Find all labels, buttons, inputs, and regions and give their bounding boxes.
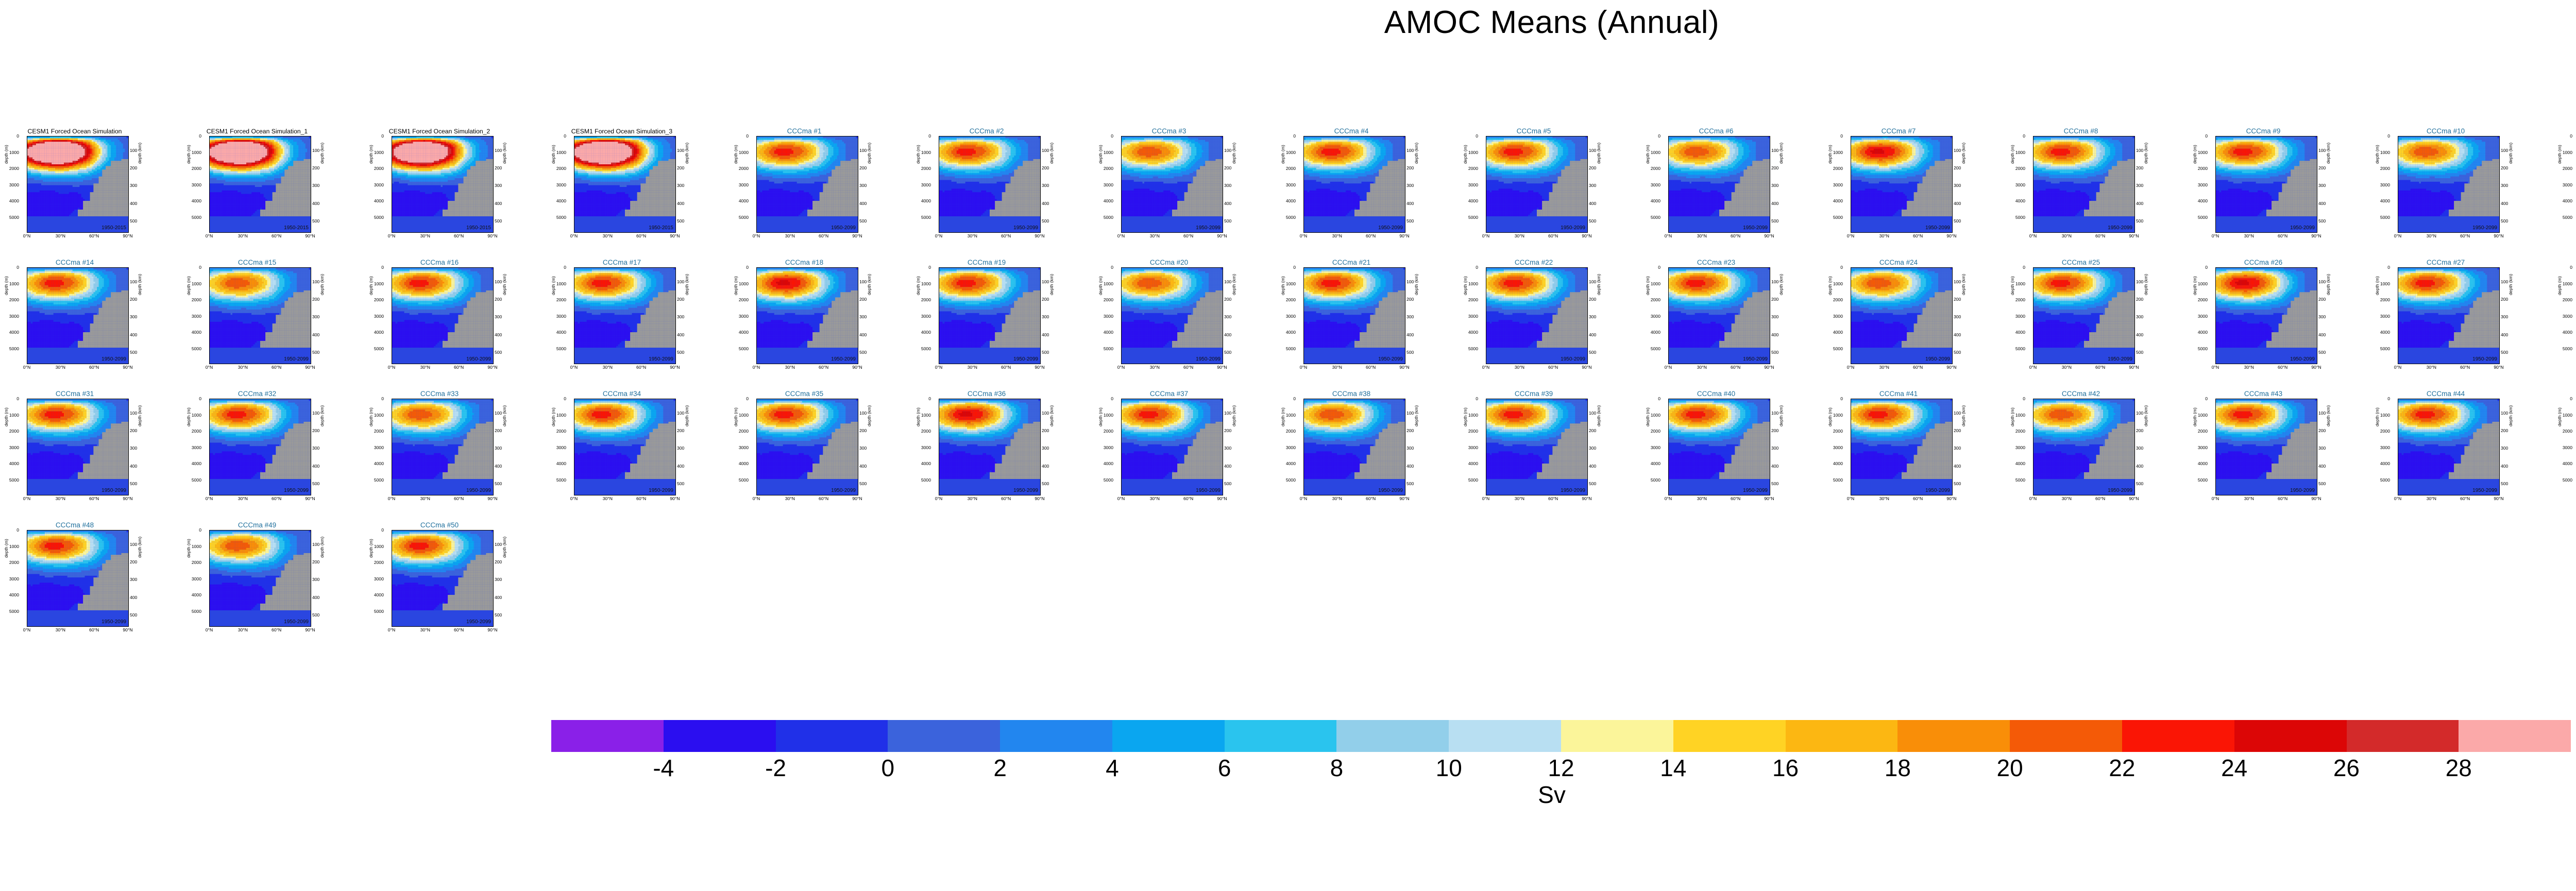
amoc-panel[interactable]: CCCma #91950-2099010002000300040005000de… <box>2193 128 2334 256</box>
amoc-panel[interactable]: CESM1 Forced Ocean Simulation_11950-2015… <box>187 128 328 256</box>
amoc-panel[interactable]: CCCma #221950-2099010002000300040005000d… <box>1463 259 1604 388</box>
right-axis-tick: 500 <box>1954 350 1961 354</box>
amoc-panel[interactable]: CCCma #421950-2099010002000300040005000d… <box>2010 390 2151 519</box>
amoc-panel[interactable]: CCCma #151950-2099010002000300040005000d… <box>187 259 328 388</box>
x-axis-ticks: 0°N30°N60°N90°N <box>209 365 310 372</box>
amoc-panel[interactable]: CCCma #431950-2099010002000300040005000d… <box>2193 390 2334 519</box>
x-axis-tick: 90°N <box>852 365 862 370</box>
y-axis-tick: 5000 <box>910 215 931 219</box>
y-axis-tick: 3000 <box>1458 183 1478 187</box>
right-axis-tick: 500 <box>2136 350 2143 354</box>
amoc-panel[interactable]: CCCma #401950-2099010002000300040005000d… <box>1646 390 1787 519</box>
panel-plot-area: 1950-2015 <box>574 136 676 233</box>
amoc-panel[interactable]: CCCma #61950-2099010002000300040005000de… <box>1646 128 1787 256</box>
colorbar <box>551 720 2571 752</box>
right-axis-tick: 400 <box>495 464 502 468</box>
x-axis-tick: 30°N <box>785 496 795 501</box>
right-axis-tick: 100 <box>2318 411 2326 415</box>
y-axis-label: depth (m) <box>1280 276 1285 295</box>
colorbar-swatch <box>2347 720 2459 752</box>
right-axis-tick: 500 <box>677 482 684 486</box>
panel-date-range: 1950-2099 <box>1561 225 1585 231</box>
amoc-contour-field <box>392 530 493 610</box>
y-axis-tick: 5000 <box>1822 347 1843 351</box>
y-axis-tick: 2000 <box>1640 166 1660 170</box>
amoc-panel[interactable]: CCCma #321950-2099010002000300040005000d… <box>187 390 328 519</box>
right-axis-tick: 400 <box>1589 201 1596 205</box>
x-axis-tick: 0°N <box>388 496 395 501</box>
panel-plot-area: 1950-2099 <box>939 136 1041 233</box>
panel-plot-area: 1950-2099 <box>939 399 1041 495</box>
right-axis-tick: 200 <box>2136 429 2143 433</box>
right-axis-tick: 200 <box>859 429 867 433</box>
right-axis-tick: 500 <box>1589 482 1596 486</box>
right-axis-tick: 500 <box>1224 350 1231 354</box>
amoc-panel[interactable]: CCCma #481950-2099010002000300040005000d… <box>4 522 145 650</box>
right-axis-tick: 300 <box>2136 446 2143 450</box>
y-axis-tick: 3000 <box>0 446 19 450</box>
y-axis-tick: 4000 <box>181 199 201 203</box>
amoc-panel[interactable]: CCCma #101950-2099010002000300040005000d… <box>2375 128 2516 256</box>
y-axis-tick: 4000 <box>363 593 384 597</box>
y-axis-tick: 1000 <box>910 413 931 417</box>
right-axis-tick: 100 <box>1954 148 1961 152</box>
y-axis-tick: 2000 <box>1640 429 1660 433</box>
panel-title: CCCma #16 <box>369 259 510 266</box>
panel-plot-area: 1950-2099 <box>2215 136 2317 233</box>
y-axis-tick: 4000 <box>1822 330 1843 334</box>
y-axis-tick: 5000 <box>728 215 749 219</box>
panel-date-range: 1950-2099 <box>1378 356 1403 362</box>
right-axis-tick: 400 <box>312 595 319 599</box>
x-axis-tick: 0°N <box>1665 233 1672 238</box>
panel-plot-area: 1950-2099 <box>1851 136 1953 233</box>
amoc-panel[interactable]: CESM1 Forced Ocean Simulation1950-201501… <box>4 128 145 256</box>
right-axis-label: depth (km) <box>2508 405 2513 426</box>
x-axis-tick: 0°N <box>206 496 213 501</box>
right-axis-label: depth (km) <box>1778 274 1784 295</box>
x-axis-tick: 90°N <box>1217 365 1227 370</box>
x-axis-tick: 60°N <box>636 365 646 370</box>
amoc-panel[interactable]: CCCma #261950-2099010002000300040005000d… <box>2193 259 2334 388</box>
x-axis-tick: 30°N <box>1332 365 1342 370</box>
right-axis-tick: 300 <box>2318 183 2326 187</box>
right-axis-tick: 400 <box>495 201 502 205</box>
y-axis-tick: 3000 <box>2005 446 2025 450</box>
x-axis-tick: 90°N <box>305 496 315 501</box>
x-axis-tick: 30°N <box>1515 365 1524 370</box>
x-axis-tick: 60°N <box>89 365 99 370</box>
panel-plot-area: 1950-2099 <box>209 267 311 364</box>
panel-date-range: 1950-2099 <box>284 356 309 362</box>
right-axis-tick: 400 <box>1589 464 1596 468</box>
colorbar-swatch <box>1336 720 1449 752</box>
x-axis-ticks: 0°N30°N60°N90°N <box>209 233 310 241</box>
amoc-contour-field <box>939 399 1040 479</box>
right-axis-tick: 400 <box>1406 464 1414 468</box>
y-axis-tick: 2000 <box>0 429 19 433</box>
x-axis-tick: 0°N <box>1117 496 1125 501</box>
amoc-panel[interactable]: CCCma #201950-2099010002000300040005000d… <box>1098 259 1240 388</box>
panel-plot-area: 1950-2099 <box>574 399 676 495</box>
y-axis-label: depth (m) <box>2192 407 2197 426</box>
amoc-panel[interactable]: CCCma #271950-2099010002000300040005000d… <box>2375 259 2516 388</box>
y-axis-tick: 3000 <box>2369 314 2390 318</box>
x-axis-tick: 30°N <box>2427 233 2436 238</box>
y-axis-tick: 3000 <box>2369 183 2390 187</box>
amoc-panel[interactable]: CCCma #11950-2099010002000300040005000de… <box>734 128 875 256</box>
panel-date-range: 1950-2099 <box>101 619 126 625</box>
x-axis-tick: 60°N <box>2278 496 2287 501</box>
right-axis-tick: 400 <box>1042 464 1049 468</box>
x-axis-tick: 60°N <box>2278 365 2287 370</box>
right-axis-tick: 400 <box>1042 201 1049 205</box>
right-axis-tick: 400 <box>2136 201 2143 205</box>
colorbar-tick: 2 <box>993 754 1007 782</box>
y-axis-tick: 3000 <box>0 577 19 581</box>
right-axis-tick: 300 <box>2318 446 2326 450</box>
y-axis-tick: 3000 <box>1822 314 1843 318</box>
right-axis-tick: 300 <box>130 446 137 450</box>
amoc-panel[interactable]: CCCma #191950-2099010002000300040005000d… <box>916 259 1057 388</box>
right-axis-label: depth (km) <box>1231 143 1236 164</box>
y-axis-tick: 3000 <box>2187 314 2208 318</box>
y-axis-tick: 4000 <box>363 461 384 466</box>
amoc-contour-field <box>939 136 1040 216</box>
x-axis-ticks: 0°N30°N60°N90°N <box>1851 233 1952 241</box>
x-axis-tick: 60°N <box>1548 496 1558 501</box>
panel-title: CCCma #21 <box>1281 259 1422 266</box>
amoc-panel[interactable]: CCCma #81950-2099010002000300040005000de… <box>2010 128 2151 256</box>
panel-title: CCCma #14 <box>4 259 145 266</box>
amoc-panel[interactable]: CCCma #211950-2099010002000300040005000d… <box>1281 259 1422 388</box>
y-axis-tick: 1000 <box>2369 150 2390 155</box>
amoc-panel[interactable]: CCCma #361950-2099010002000300040005000d… <box>916 390 1057 519</box>
right-axis-tick: 400 <box>312 201 319 205</box>
right-axis-tick: 500 <box>312 482 319 486</box>
right-axis-tick: 500 <box>1771 219 1778 223</box>
y-axis-tick: 0 <box>181 265 201 269</box>
x-axis-tick: 60°N <box>636 496 646 501</box>
panel-date-range: 1950-2099 <box>2472 488 2497 493</box>
x-axis-ticks: 0°N30°N60°N90°N <box>756 233 857 241</box>
y-axis-tick: 2000 <box>546 429 566 433</box>
right-axis-tick: 100 <box>130 280 137 284</box>
x-axis-ticks: 0°N30°N60°N90°N <box>1486 233 1587 241</box>
panel-plot-area: 1950-2015 <box>392 136 494 233</box>
y-axis-tick: 2000 <box>363 560 384 564</box>
x-axis-tick: 90°N <box>2311 233 2321 238</box>
y-axis-tick: 2000 <box>2552 166 2572 170</box>
y-axis-tick: 4000 <box>2369 199 2390 203</box>
right-axis-label: depth (km) <box>2326 405 2331 426</box>
x-axis-tick: 60°N <box>1731 496 1740 501</box>
panel-title: CCCma #26 <box>2193 259 2334 266</box>
panel-plot-area: 1950-2099 <box>2398 399 2500 495</box>
y-axis-tick: 0 <box>1275 134 1296 138</box>
amoc-panel[interactable]: CCCma #161950-2099010002000300040005000d… <box>369 259 510 388</box>
y-axis-tick: 1000 <box>181 413 201 417</box>
y-axis-label: depth (m) <box>1280 145 1285 164</box>
amoc-panel[interactable]: CCCma #371950-2099010002000300040005000d… <box>1098 390 1240 519</box>
right-axis-tick: 500 <box>859 350 867 354</box>
y-axis-tick: 4000 <box>910 199 931 203</box>
y-axis-tick: 5000 <box>363 478 384 482</box>
y-axis-tick: 5000 <box>181 609 201 613</box>
x-axis-tick: 90°N <box>1217 496 1227 501</box>
x-axis-ticks: 0°N30°N60°N90°N <box>392 496 493 503</box>
right-axis-tick: 500 <box>130 350 137 354</box>
amoc-panel[interactable]: CCCma #441950-2099010002000300040005000d… <box>2375 390 2516 519</box>
y-axis-tick: 2000 <box>2187 166 2208 170</box>
y-axis-tick: 0 <box>2187 397 2208 401</box>
right-axis-tick: 100 <box>859 148 867 152</box>
amoc-panel[interactable]: CCCma #331950-2099010002000300040005000d… <box>369 390 510 519</box>
panel-plot-area: 1950-2099 <box>1121 136 1223 233</box>
y-axis-tick: 3000 <box>910 446 931 450</box>
y-axis-tick: 0 <box>1640 265 1660 269</box>
amoc-contour-field <box>1669 136 1770 216</box>
y-axis-tick: 4000 <box>1093 199 1113 203</box>
amoc-contour-field <box>1304 399 1405 479</box>
colorbar-swatch <box>2010 720 2122 752</box>
amoc-panel[interactable]: CCCma #251950-2099010002000300040005000d… <box>2010 259 2151 388</box>
panel-plot-area: 1950-2099 <box>574 267 676 364</box>
y-axis-tick: 3000 <box>546 446 566 450</box>
y-axis-tick: 1000 <box>2369 413 2390 417</box>
right-axis-tick: 300 <box>495 446 502 450</box>
right-axis-tick: 400 <box>677 464 684 468</box>
panel-plot-area: 1950-2099 <box>1121 399 1223 495</box>
right-axis-label: depth (km) <box>2143 405 2148 426</box>
right-axis-label: depth (km) <box>137 143 142 164</box>
y-axis-tick: 0 <box>1458 265 1478 269</box>
x-axis-tick: 90°N <box>1946 233 1956 238</box>
y-axis-label: depth (m) <box>916 145 921 164</box>
y-axis-tick: 2000 <box>2005 166 2025 170</box>
y-axis-tick: 4000 <box>2005 199 2025 203</box>
x-axis-tick: 60°N <box>272 365 281 370</box>
right-axis-tick: 300 <box>1224 446 1231 450</box>
amoc-panel[interactable]: CCCma #41950-2099010002000300040005000de… <box>1281 128 1422 256</box>
panel-date-range: 1950-2099 <box>284 619 309 625</box>
y-axis-tick: 5000 <box>1640 347 1660 351</box>
y-axis-label: depth (m) <box>1645 276 1650 295</box>
amoc-panel[interactable]: CCCma #171950-2099010002000300040005000d… <box>551 259 692 388</box>
panel-title: CCCma #8 <box>2010 128 2151 135</box>
y-axis-tick: 1000 <box>546 413 566 417</box>
x-axis-tick: 30°N <box>1879 365 1889 370</box>
right-axis-tick: 500 <box>2136 219 2143 223</box>
x-axis-ticks: 0°N30°N60°N90°N <box>756 496 857 503</box>
right-axis-tick: 400 <box>859 464 867 468</box>
right-axis-label: depth (km) <box>502 274 507 295</box>
y-axis-tick: 5000 <box>1640 215 1660 219</box>
x-axis-tick: 30°N <box>2427 496 2436 501</box>
y-axis-tick: 1000 <box>1822 282 1843 286</box>
panel-plot-area: 1950-2099 <box>1486 267 1588 364</box>
right-axis-tick: 100 <box>1224 280 1231 284</box>
amoc-panel[interactable]: CCCma #351950-2099010002000300040005000d… <box>734 390 875 519</box>
y-axis-tick: 0 <box>1640 134 1660 138</box>
y-axis-tick: 0 <box>2005 134 2025 138</box>
x-axis-tick: 90°N <box>1764 496 1774 501</box>
y-axis-tick: 3000 <box>910 314 931 318</box>
x-axis-tick: 30°N <box>1515 496 1524 501</box>
y-axis-tick: 3000 <box>363 446 384 450</box>
y-axis-tick: 4000 <box>1458 461 1478 466</box>
y-axis-tick: 5000 <box>1275 478 1296 482</box>
y-axis-tick: 3000 <box>181 577 201 581</box>
panel-title: CCCma #37 <box>1098 390 1240 398</box>
y-axis-tick: 5000 <box>2005 347 2025 351</box>
amoc-panel[interactable]: CESM1 Forced Ocean Simulation_31950-2015… <box>551 128 692 256</box>
amoc-panel[interactable]: CCCma #31950-2099010002000300040005000de… <box>1098 128 1240 256</box>
colorbar-swatch <box>1112 720 1225 752</box>
x-axis-tick: 60°N <box>1731 365 1740 370</box>
panel-title: CCCma #25 <box>2010 259 2151 266</box>
y-axis-tick: 4000 <box>181 593 201 597</box>
right-axis-tick: 400 <box>2501 201 2508 205</box>
x-axis-tick: 0°N <box>2394 496 2401 501</box>
amoc-panel[interactable]: CCCma #51950-2099010002000300040005000de… <box>1463 128 1604 256</box>
y-axis-tick: 2000 <box>910 298 931 302</box>
amoc-panel[interactable]: CCCma #381950-2099010002000300040005000d… <box>1281 390 1422 519</box>
amoc-panel[interactable]: CCCma #501950-2099010002000300040005000d… <box>369 522 510 650</box>
y-axis-tick: 2000 <box>728 298 749 302</box>
panel-plot-area: 1950-2099 <box>756 267 858 364</box>
right-axis-tick: 200 <box>1224 297 1231 301</box>
x-axis-tick: 30°N <box>1697 233 1707 238</box>
amoc-contour-field <box>2398 136 2499 216</box>
y-axis-tick: 1000 <box>546 150 566 155</box>
y-axis-label: depth (m) <box>1463 407 1468 426</box>
x-axis-tick: 30°N <box>56 233 65 238</box>
amoc-panel[interactable]: CESM1 Forced Ocean Simulation_21950-2015… <box>369 128 510 256</box>
amoc-panel[interactable]: CCCma #311950-2099010002000300040005000d… <box>4 390 145 519</box>
amoc-panel[interactable]: CCCma #111950-2099010002000300040005000d… <box>2557 128 2576 256</box>
y-axis-tick: 1000 <box>910 282 931 286</box>
right-axis-tick: 400 <box>2318 333 2326 337</box>
y-axis-tick: 4000 <box>363 330 384 334</box>
panel-date-range: 1950-2099 <box>1378 225 1403 231</box>
amoc-panel[interactable]: CCCma #21950-2099010002000300040005000de… <box>916 128 1057 256</box>
y-axis-label: depth (m) <box>1098 407 1103 426</box>
right-axis-label: depth (km) <box>1778 405 1784 426</box>
amoc-contour-field <box>757 399 858 479</box>
x-axis-tick: 90°N <box>1035 233 1044 238</box>
right-axis-tick: 500 <box>130 482 137 486</box>
x-axis-tick: 60°N <box>1183 233 1193 238</box>
y-axis-tick: 0 <box>1275 265 1296 269</box>
y-axis-tick: 1000 <box>2005 413 2025 417</box>
y-axis-label: depth (m) <box>186 539 191 558</box>
y-axis-tick: 4000 <box>546 199 566 203</box>
y-axis-tick: 2000 <box>728 429 749 433</box>
y-axis-tick: 2000 <box>910 166 931 170</box>
right-axis-tick: 100 <box>2318 280 2326 284</box>
y-axis-tick: 5000 <box>0 347 19 351</box>
amoc-panel[interactable]: CCCma #141950-2099010002000300040005000d… <box>4 259 145 388</box>
amoc-contour-field <box>2033 136 2134 216</box>
amoc-panel[interactable]: CCCma #241950-2099010002000300040005000d… <box>1828 259 1969 388</box>
amoc-panel[interactable]: CCCma #391950-2099010002000300040005000d… <box>1463 390 1604 519</box>
colorbar-tick: 16 <box>1772 754 1799 782</box>
right-axis-tick: 500 <box>677 350 684 354</box>
right-axis-tick: 100 <box>677 148 684 152</box>
panel-title: CESM1 Forced Ocean Simulation <box>4 128 145 135</box>
x-axis-ticks: 0°N30°N60°N90°N <box>574 233 675 241</box>
amoc-panel[interactable]: CCCma #181950-2099010002000300040005000d… <box>734 259 875 388</box>
amoc-panel[interactable]: CCCma #71950-2099010002000300040005000de… <box>1828 128 1969 256</box>
x-axis-tick: 0°N <box>2029 496 2037 501</box>
y-axis-tick: 0 <box>2552 134 2572 138</box>
y-axis-tick: 2000 <box>181 560 201 564</box>
right-axis-tick: 300 <box>495 315 502 319</box>
y-axis-tick: 3000 <box>728 183 749 187</box>
right-axis-tick: 100 <box>1954 280 1961 284</box>
y-axis-tick: 0 <box>910 134 931 138</box>
right-axis-tick: 400 <box>495 333 502 337</box>
panel-title: CCCma #44 <box>2375 390 2516 398</box>
x-axis-tick: 60°N <box>454 233 464 238</box>
amoc-panel[interactable]: CCCma #281950-2099010002000300040005000d… <box>2557 259 2576 388</box>
panel-date-range: 1950-2099 <box>2290 356 2315 362</box>
panel-date-range: 1950-2099 <box>466 488 491 493</box>
colorbar-swatch <box>1225 720 1337 752</box>
amoc-panel[interactable]: CCCma #411950-2099010002000300040005000d… <box>1828 390 1969 519</box>
panel-title: CCCma #33 <box>369 390 510 398</box>
y-axis-tick: 1000 <box>1093 150 1113 155</box>
panel-date-range: 1950-2099 <box>466 619 491 625</box>
x-axis-tick: 90°N <box>305 365 315 370</box>
amoc-panel[interactable]: CCCma #491950-2099010002000300040005000d… <box>187 522 328 650</box>
colorbar-swatch <box>1673 720 1786 752</box>
x-axis-ticks: 0°N30°N60°N90°N <box>2398 496 2499 503</box>
x-axis-tick: 0°N <box>388 627 395 632</box>
y-axis-tick: 3000 <box>2369 446 2390 450</box>
y-axis-tick: 4000 <box>2005 461 2025 466</box>
panel-date-range: 1950-2099 <box>466 356 491 362</box>
x-axis-tick: 60°N <box>272 627 281 632</box>
right-axis-label: depth (km) <box>1231 274 1236 295</box>
panel-title: CCCma #4 <box>1281 128 1422 135</box>
colorbar-swatch <box>1897 720 2010 752</box>
right-axis-tick: 100 <box>2136 280 2143 284</box>
right-axis-tick: 100 <box>1589 411 1596 415</box>
panel-plot-area: 1950-2099 <box>27 530 129 627</box>
panel-title: CCCma #41 <box>1828 390 1969 398</box>
colorbar-swatch <box>2459 720 2571 752</box>
amoc-contour-field <box>210 136 311 216</box>
right-axis-label: depth (km) <box>319 274 325 295</box>
panel-date-range: 1950-2099 <box>1378 488 1403 493</box>
y-axis-tick: 5000 <box>1458 478 1478 482</box>
right-axis-tick: 100 <box>1771 280 1778 284</box>
right-axis-tick: 300 <box>1042 315 1049 319</box>
right-axis-label: depth (km) <box>2326 274 2331 295</box>
amoc-panel[interactable]: CCCma #341950-2099010002000300040005000d… <box>551 390 692 519</box>
amoc-panel[interactable]: CCCma #231950-2099010002000300040005000d… <box>1646 259 1787 388</box>
right-axis-tick: 100 <box>1406 411 1414 415</box>
right-axis-label: depth (km) <box>502 143 507 164</box>
panel-title: CCCma #23 <box>1646 259 1787 266</box>
x-axis-ticks: 0°N30°N60°N90°N <box>27 365 128 372</box>
y-axis-label: depth (m) <box>733 145 738 164</box>
y-axis-tick: 5000 <box>910 347 931 351</box>
amoc-panel[interactable]: CCCma #451950-2099010002000300040005000d… <box>2557 390 2576 519</box>
x-axis-ticks: 0°N30°N60°N90°N <box>756 365 857 372</box>
